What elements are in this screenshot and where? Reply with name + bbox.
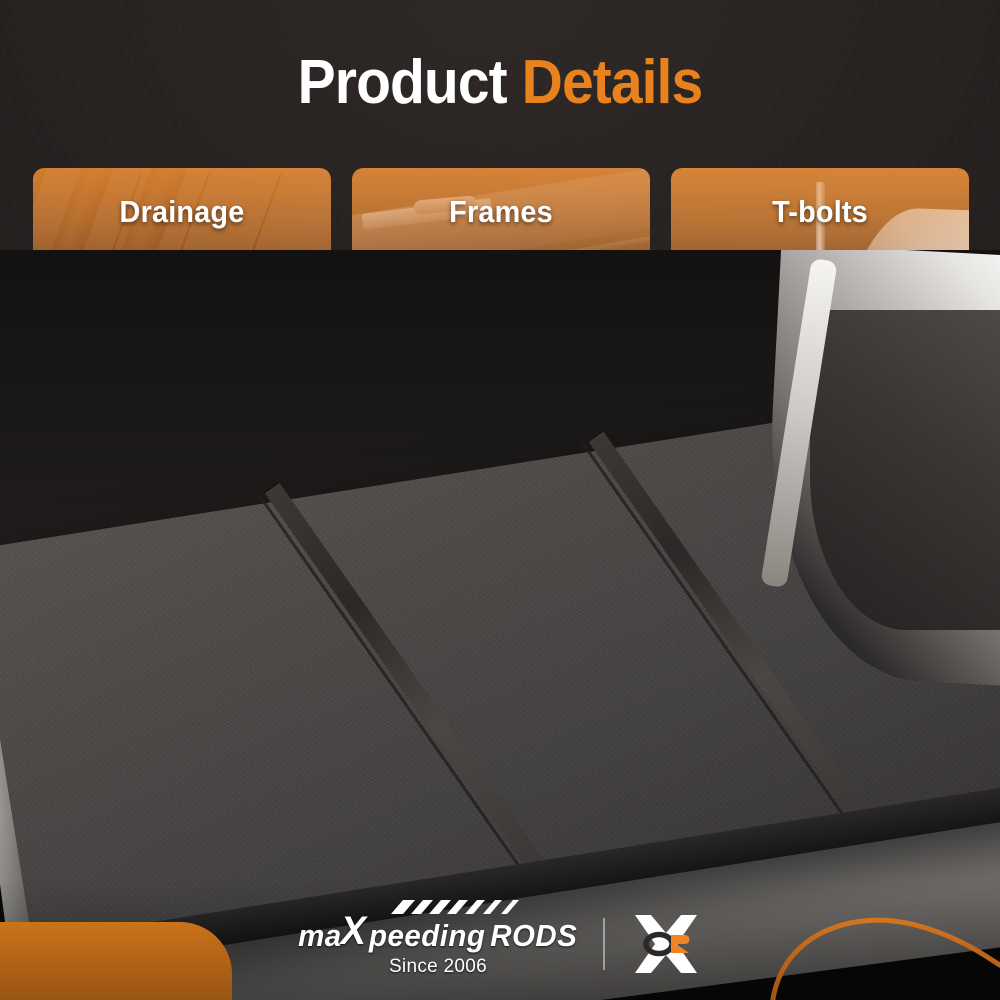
page-title: Product Details	[40, 52, 960, 114]
brand-x: X	[341, 911, 367, 951]
racing-flag-icon	[389, 898, 521, 917]
feature-card-label-tbolts: T-bolts	[681, 194, 958, 230]
brand-ma: ma	[298, 920, 342, 951]
brand-tagline: Since 2006	[389, 956, 487, 978]
ox-badge-icon	[629, 913, 703, 975]
page-title-white: Product	[298, 48, 507, 117]
brand-peeding: peeding	[369, 920, 485, 951]
brand-rods: RODS	[490, 920, 577, 951]
feature-card-label-drainage: Drainage	[43, 194, 320, 230]
footer-divider	[603, 918, 605, 970]
brand-wordmark: ma X peeding RODS	[297, 911, 580, 951]
product-details-graphic: Product Details Drainage	[0, 0, 1000, 1000]
feature-card-label-frames: Frames	[362, 194, 639, 230]
footer-logo-bar: ma X peeding RODS Since 2006	[0, 904, 1000, 984]
truck-rear-window	[810, 310, 1000, 630]
maxpeedingrods-logo: ma X peeding RODS Since 2006	[297, 911, 580, 978]
page-title-orange: Details	[522, 48, 703, 117]
